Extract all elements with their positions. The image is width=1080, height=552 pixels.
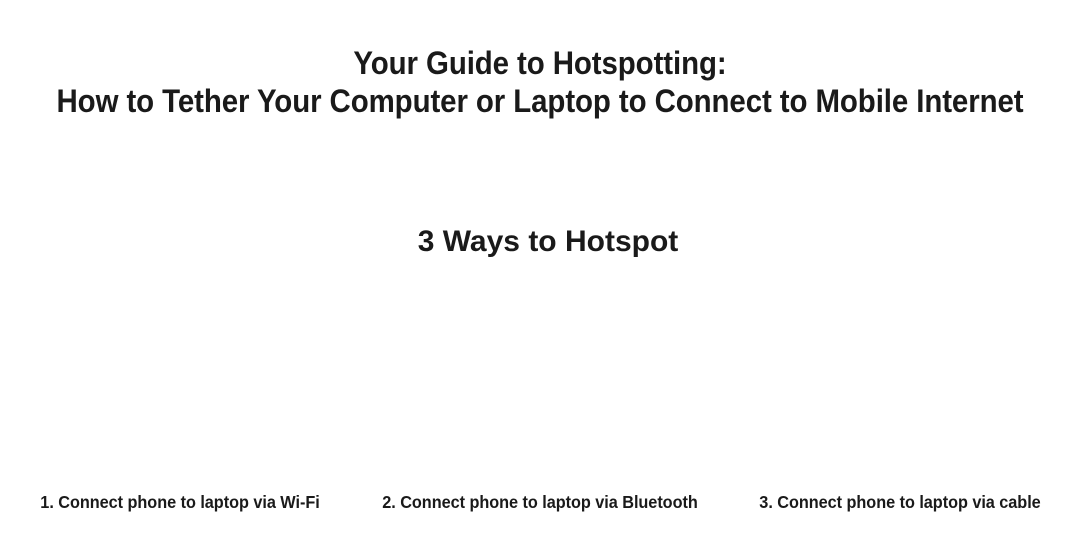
- step-wifi-illustration: [0, 280, 360, 491]
- step-cable-illustration: [720, 280, 1080, 491]
- hotspot-methods-row: 1. Connect phone to laptop via Wi-Fi 2. …: [0, 280, 1080, 542]
- step-item-cable: 3. Connect phone to laptop via cable: [720, 280, 1080, 542]
- page-title: Your Guide to Hotspotting: How to Tether…: [0, 44, 1080, 120]
- step-item-wifi: 1. Connect phone to laptop via Wi-Fi: [0, 280, 360, 542]
- step-wifi-caption: 1. Connect phone to laptop via Wi-Fi: [13, 491, 348, 542]
- step-bluetooth-caption: 2. Connect phone to laptop via Bluetooth: [373, 491, 708, 542]
- headline-line-2: How to Tether Your Computer or Laptop to…: [43, 82, 1037, 120]
- section-heading-label: 3 Ways to Hotspot: [418, 224, 679, 260]
- step-item-bluetooth: 2. Connect phone to laptop via Bluetooth: [360, 280, 720, 542]
- section-heading: 3 Ways to Hotspot: [0, 224, 1080, 260]
- step-bluetooth-illustration: [360, 280, 720, 491]
- step-cable-caption: 3. Connect phone to laptop via cable: [733, 491, 1068, 542]
- article-page: Your Guide to Hotspotting: How to Tether…: [0, 0, 1080, 552]
- headline-line-1: Your Guide to Hotspotting:: [43, 44, 1037, 82]
